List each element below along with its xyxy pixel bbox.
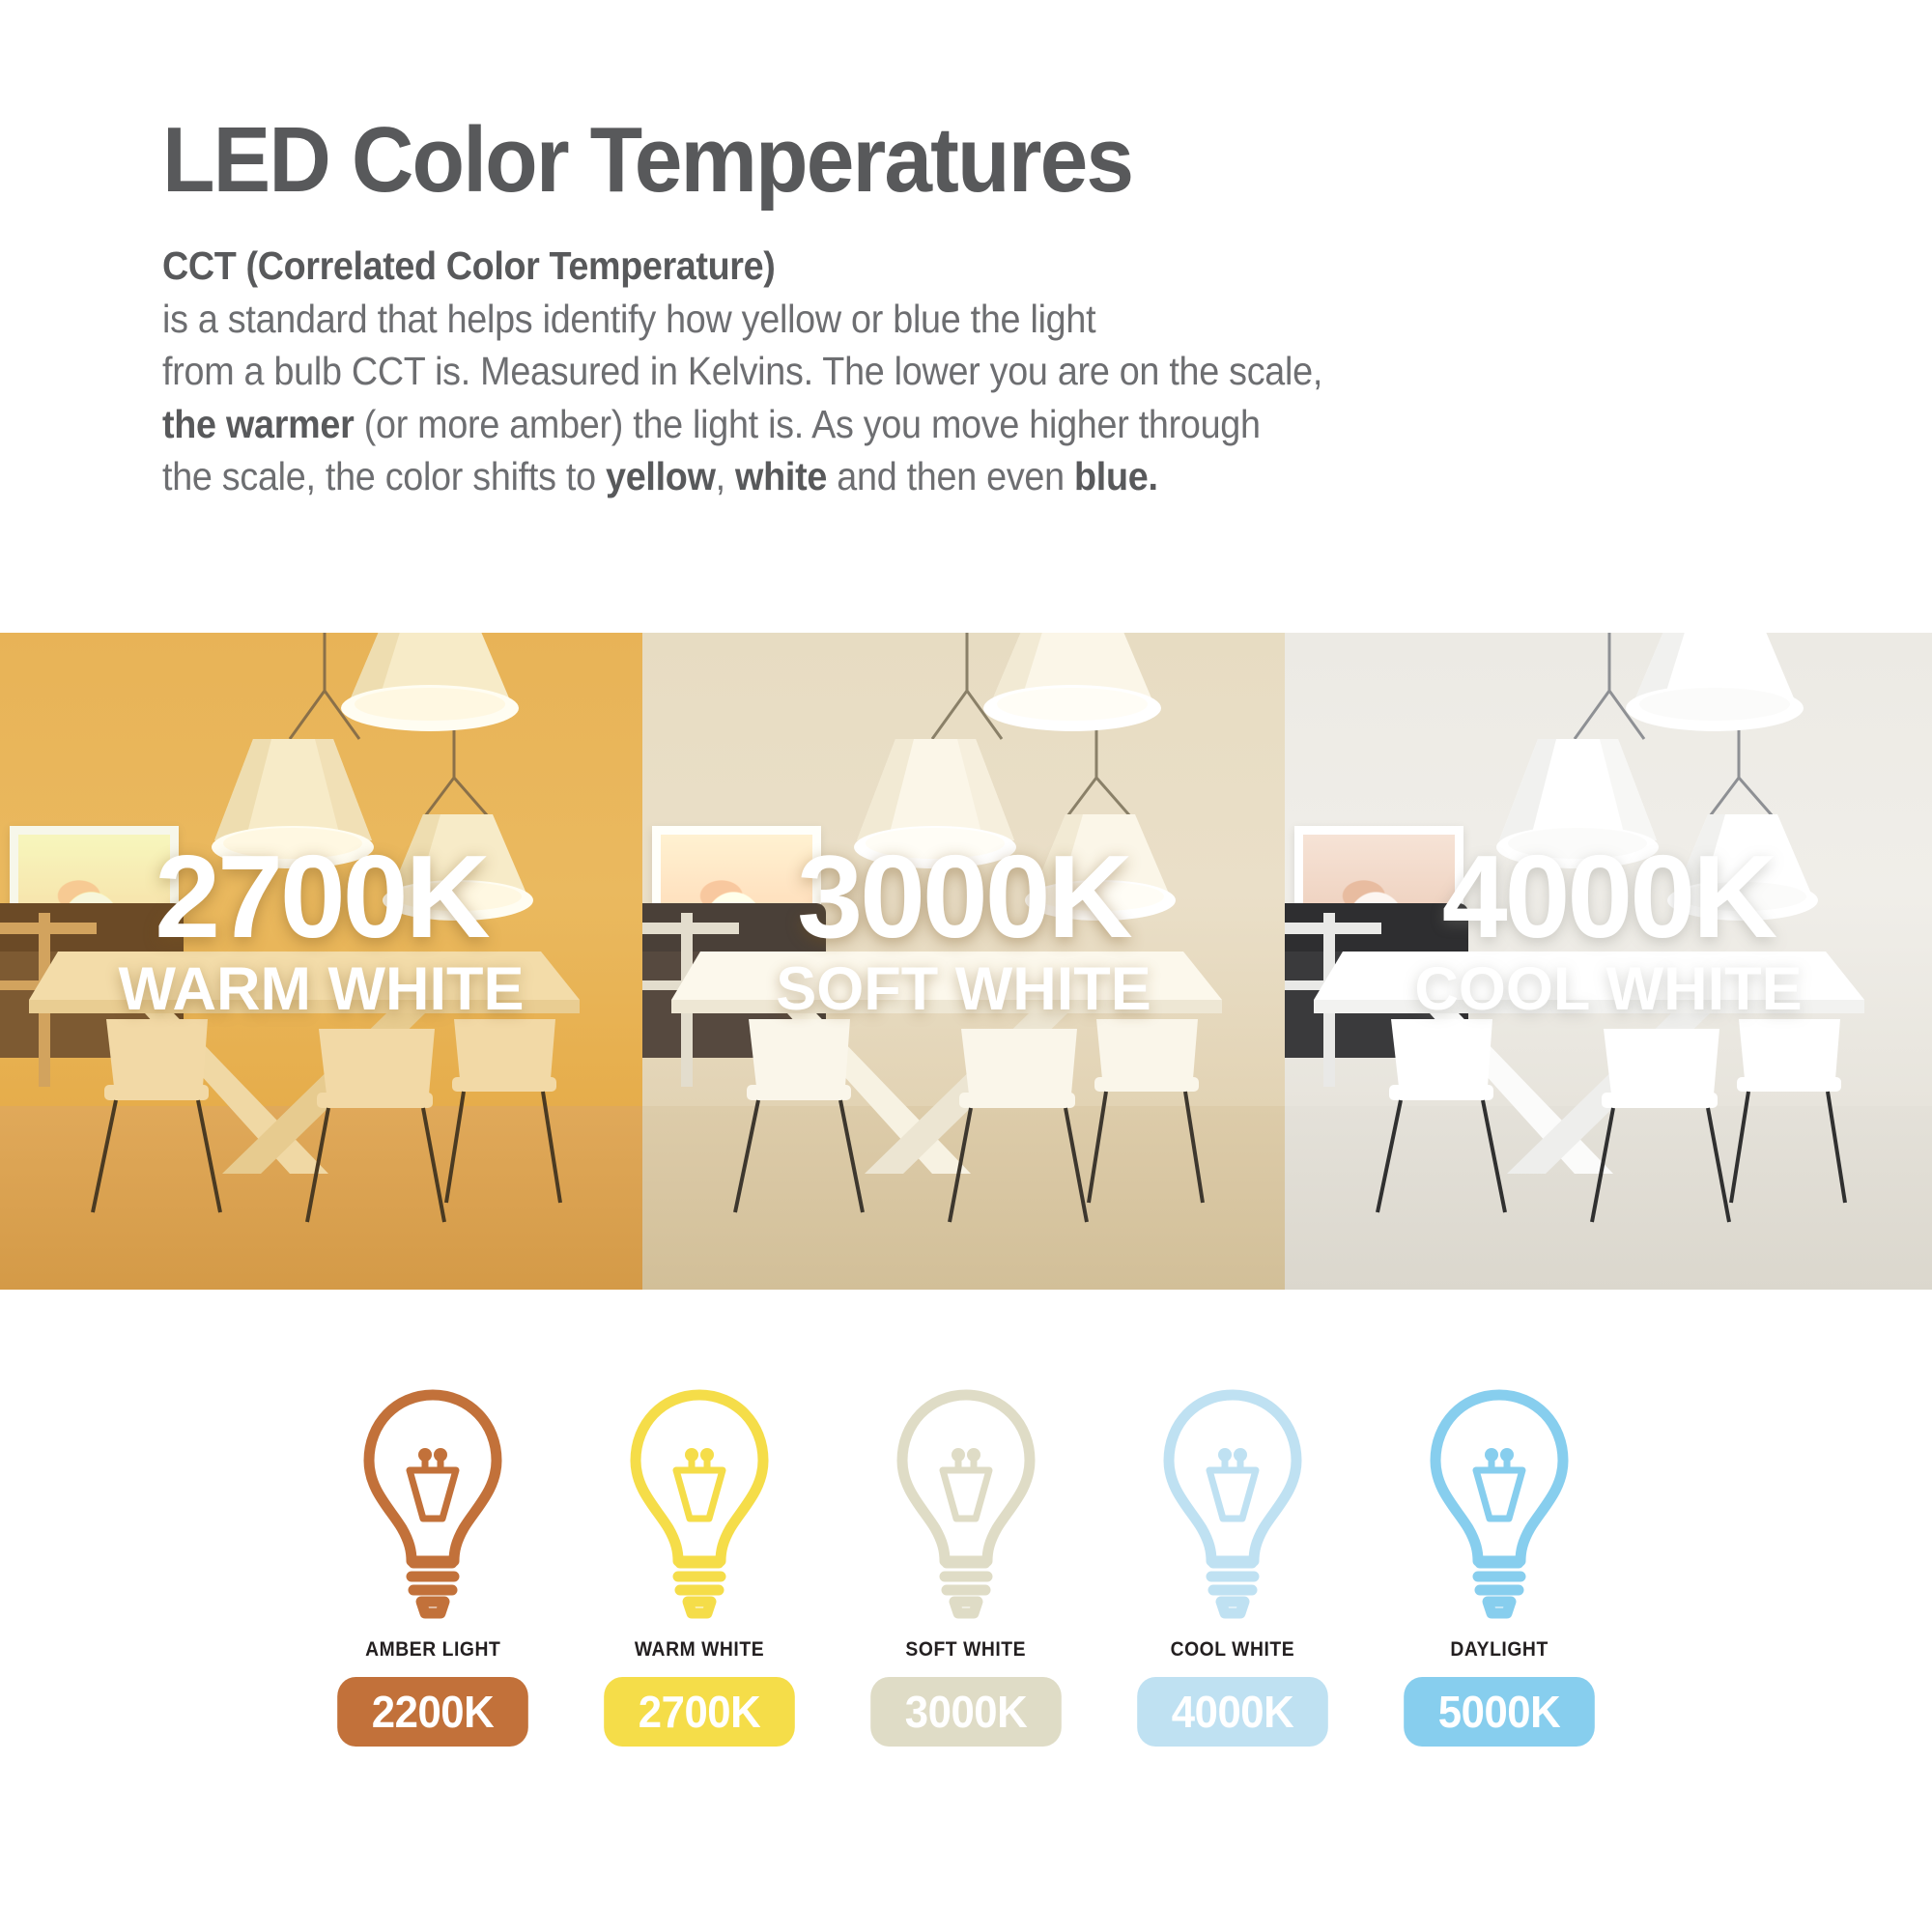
- intro-line-4-pre: the scale, the color shifts to: [162, 454, 606, 498]
- intro-paragraph: CCT (Correlated Color Temperature) is a …: [162, 240, 1790, 502]
- cct-scale-item-warm-white[interactable]: WARM WHITE 2700K: [566, 1381, 833, 1747]
- cct-kelvin-pill[interactable]: 4000K: [1137, 1677, 1328, 1747]
- cct-scale-row: AMBER LIGHT 2200K WARM WHITE 2700K: [0, 1381, 1932, 1747]
- intro-line-3-rest: (or more amber) the light is. As you mov…: [355, 402, 1261, 446]
- lightbulb-outline-icon: [622, 1381, 777, 1623]
- cct-scale-item-soft-white[interactable]: SOFT WHITE 3000K: [833, 1381, 1099, 1747]
- room-panel-4000k: 4000K COOL WHITE: [1285, 633, 1932, 1290]
- intro-bold-yellow: yellow: [606, 454, 716, 498]
- cct-kelvin-pill[interactable]: 2200K: [337, 1677, 528, 1747]
- room-comparison-strip: 2700K WARM WHITE: [0, 633, 1932, 1290]
- intro-bold-warmer: the warmer: [162, 402, 355, 446]
- room-panel-2700k: 2700K WARM WHITE: [0, 633, 642, 1290]
- cct-label: COOL WHITE: [1171, 1638, 1295, 1662]
- intro-line-4: the scale, the color shifts to yellow, w…: [162, 450, 1790, 502]
- cct-scale-item-daylight[interactable]: DAYLIGHT 5000K: [1366, 1381, 1633, 1747]
- lightbulb-outline-icon: [1422, 1381, 1577, 1623]
- cct-definition-heading: CCT (Correlated Color Temperature): [162, 240, 1790, 293]
- intro-line-4-sep1: ,: [716, 454, 735, 498]
- lightbulb-outline-icon: [889, 1381, 1043, 1623]
- cct-kelvin-pill[interactable]: 2700K: [604, 1677, 795, 1747]
- lightbulb-outline-icon: [355, 1381, 510, 1623]
- cct-scale-item-cool-white[interactable]: COOL WHITE 4000K: [1099, 1381, 1366, 1747]
- cct-label: DAYLIGHT: [1450, 1638, 1548, 1662]
- cct-scale-item-amber-light[interactable]: AMBER LIGHT 2200K: [299, 1381, 566, 1747]
- furniture: [1285, 633, 1932, 1290]
- header: LED Color Temperatures CCT (Correlated C…: [0, 0, 1932, 502]
- intro-line-4-sep2: and then even: [827, 454, 1074, 498]
- room-panel-3000k: 3000K SOFT WHITE: [642, 633, 1285, 1290]
- cct-label: WARM WHITE: [635, 1638, 764, 1662]
- intro-line-1: is a standard that helps identify how ye…: [162, 293, 1790, 345]
- furniture: [0, 633, 642, 1290]
- intro-bold-white: white: [735, 454, 827, 498]
- intro-bold-blue: blue.: [1074, 454, 1158, 498]
- intro-line-2: from a bulb CCT is. Measured in Kelvins.…: [162, 345, 1790, 397]
- furniture: [642, 633, 1285, 1290]
- cct-kelvin-pill[interactable]: 3000K: [870, 1677, 1062, 1747]
- intro-line-3: the warmer (or more amber) the light is.…: [162, 398, 1790, 450]
- page-title: LED Color Temperatures: [162, 114, 1808, 207]
- cct-kelvin-pill[interactable]: 5000K: [1404, 1677, 1595, 1747]
- lightbulb-outline-icon: [1155, 1381, 1310, 1623]
- cct-label: AMBER LIGHT: [365, 1638, 500, 1662]
- cct-label: SOFT WHITE: [906, 1638, 1027, 1662]
